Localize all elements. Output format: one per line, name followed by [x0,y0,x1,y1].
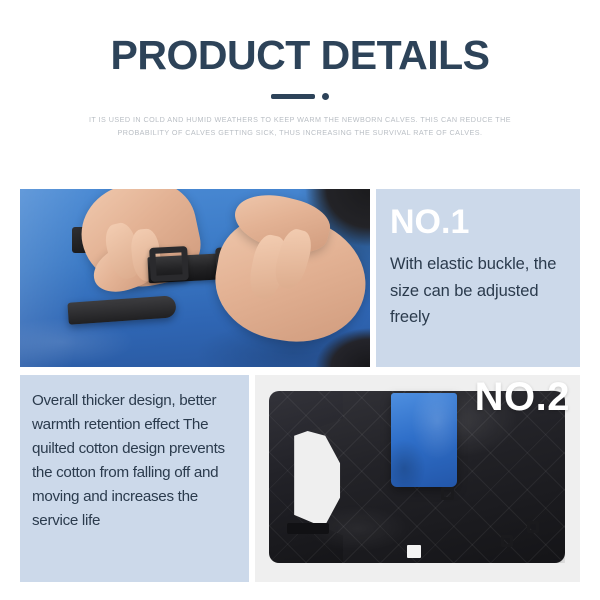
section-no2: Overall thicker design, better warmth re… [20,375,580,582]
divider-dot-icon [322,93,329,100]
page-title: PRODUCT DETAILS [0,34,600,77]
blue-flap-panel [391,393,457,487]
title-divider [0,91,600,101]
buckle-slider [149,246,189,282]
blanket-neck-notch [269,391,343,563]
blanket-buckle-2 [501,535,513,547]
no2-text-panel: Overall thicker design, better warmth re… [20,375,249,582]
page-header: PRODUCT DETAILS IT IS USED IN COLD AND H… [0,0,600,140]
white-care-tag [407,545,421,558]
velcro-patch [287,523,329,534]
page-subtitle: IT IS USED IN COLD AND HUMID WEATHERS TO… [85,113,515,140]
blanket-buckle-3 [527,521,539,533]
no1-description: With elastic buckle, the size can be adj… [390,251,566,331]
quilted-blanket-photo: NO.2 [255,375,580,582]
no2-badge: NO.2 [475,377,570,417]
no1-badge: NO.1 [390,205,566,239]
section-no1: NO.1 With elastic buckle, the size can b… [20,189,580,367]
blanket-buckle-1 [441,487,454,500]
no1-text-panel: NO.1 With elastic buckle, the size can b… [376,189,580,367]
divider-bar-icon [271,94,315,99]
no2-description: Overall thicker design, better warmth re… [32,389,239,533]
buckle-adjustment-photo [20,189,370,367]
